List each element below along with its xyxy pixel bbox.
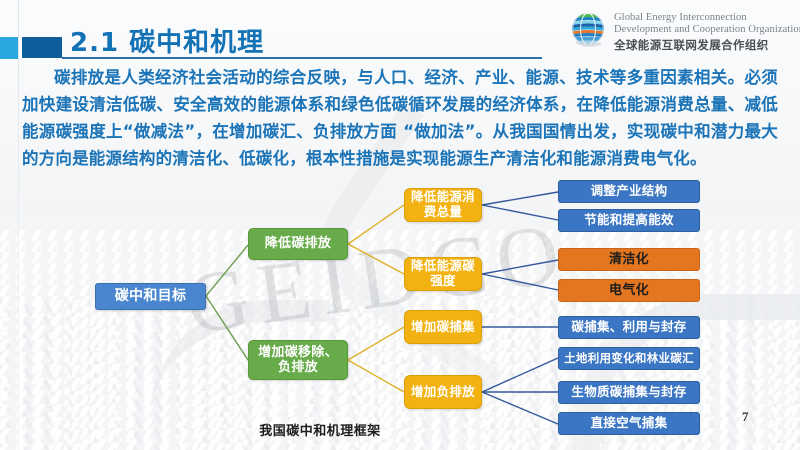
diagram-caption: 我国碳中和机理框架 [0,420,640,439]
diagram-node-reduce-energy-consumption[interactable]: 降低能源消费总量 [404,188,482,222]
diagram-node-beccs[interactable]: 生物质碳捕集与封存 [558,381,700,404]
diagram-node-root[interactable]: 碳中和目标 [95,283,206,310]
diagram-node-adjust-industrial-structure[interactable]: 调整产业结构 [558,180,700,203]
diagram-node-increase-negative-emissions[interactable]: 增加负排放 [404,375,482,409]
slide: GEIDCO 2.1 碳中和机理 [0,0,800,450]
diagram-node-increase-removal[interactable]: 增加碳移除、负排放 [248,340,348,380]
diagram-node-energy-saving-efficiency[interactable]: 节能和提高能效 [558,209,700,232]
diagram-node-cleanification[interactable]: 清洁化 [558,248,700,271]
diagram-node-increase-carbon-capture[interactable]: 增加碳捕集 [404,310,482,344]
page-number: 7 [742,409,749,425]
diagram-node-ccus[interactable]: 碳捕集、利用与封存 [558,316,700,339]
diagram-node-electrification[interactable]: 电气化 [558,279,700,302]
diagram-node-reduce-emissions[interactable]: 降低碳排放 [248,228,348,260]
diagram-carbon-neutrality-framework: 碳中和目标 降低碳排放 增加碳移除、负排放 降低能源消费总量 降低能源碳强度 增… [0,0,800,450]
diagram-node-reduce-carbon-intensity[interactable]: 降低能源碳强度 [404,257,482,291]
diagram-node-lulucf[interactable]: 土地利用变化和林业碳汇 [558,347,700,370]
